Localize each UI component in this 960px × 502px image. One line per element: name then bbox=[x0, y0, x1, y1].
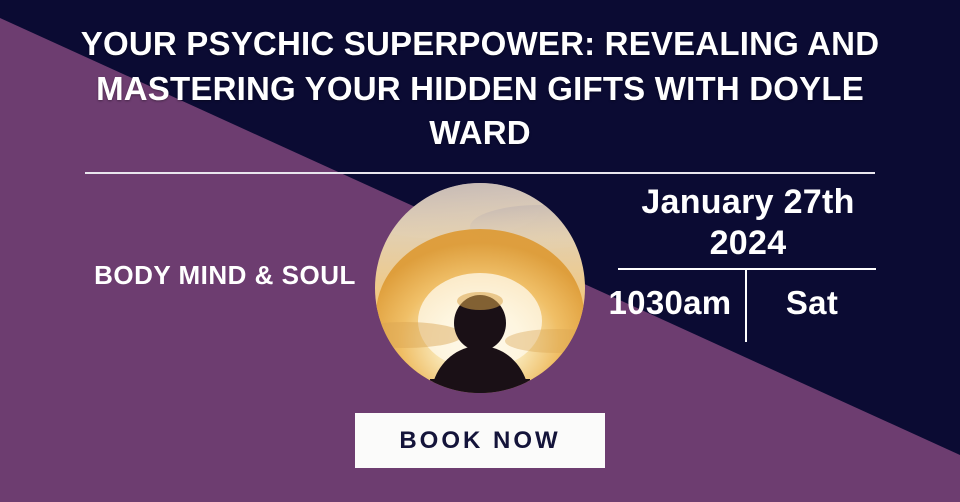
event-time: 1030am bbox=[596, 284, 744, 322]
divider-horizontal-top bbox=[85, 172, 875, 174]
event-date: January 27th 2024 bbox=[600, 182, 896, 265]
book-now-button[interactable]: BOOK NOW bbox=[355, 413, 605, 468]
event-weekday: Sat bbox=[748, 284, 876, 322]
organizer-label: BODY MIND & SOUL bbox=[80, 260, 370, 291]
divider-vertical bbox=[745, 270, 747, 342]
event-banner: YOUR PSYCHIC SUPERPOWER: REVEALING AND M… bbox=[0, 0, 960, 502]
hero-photo-circle bbox=[375, 183, 585, 393]
divider-horizontal-mid bbox=[618, 268, 876, 270]
page-title: YOUR PSYCHIC SUPERPOWER: REVEALING AND M… bbox=[60, 22, 900, 156]
